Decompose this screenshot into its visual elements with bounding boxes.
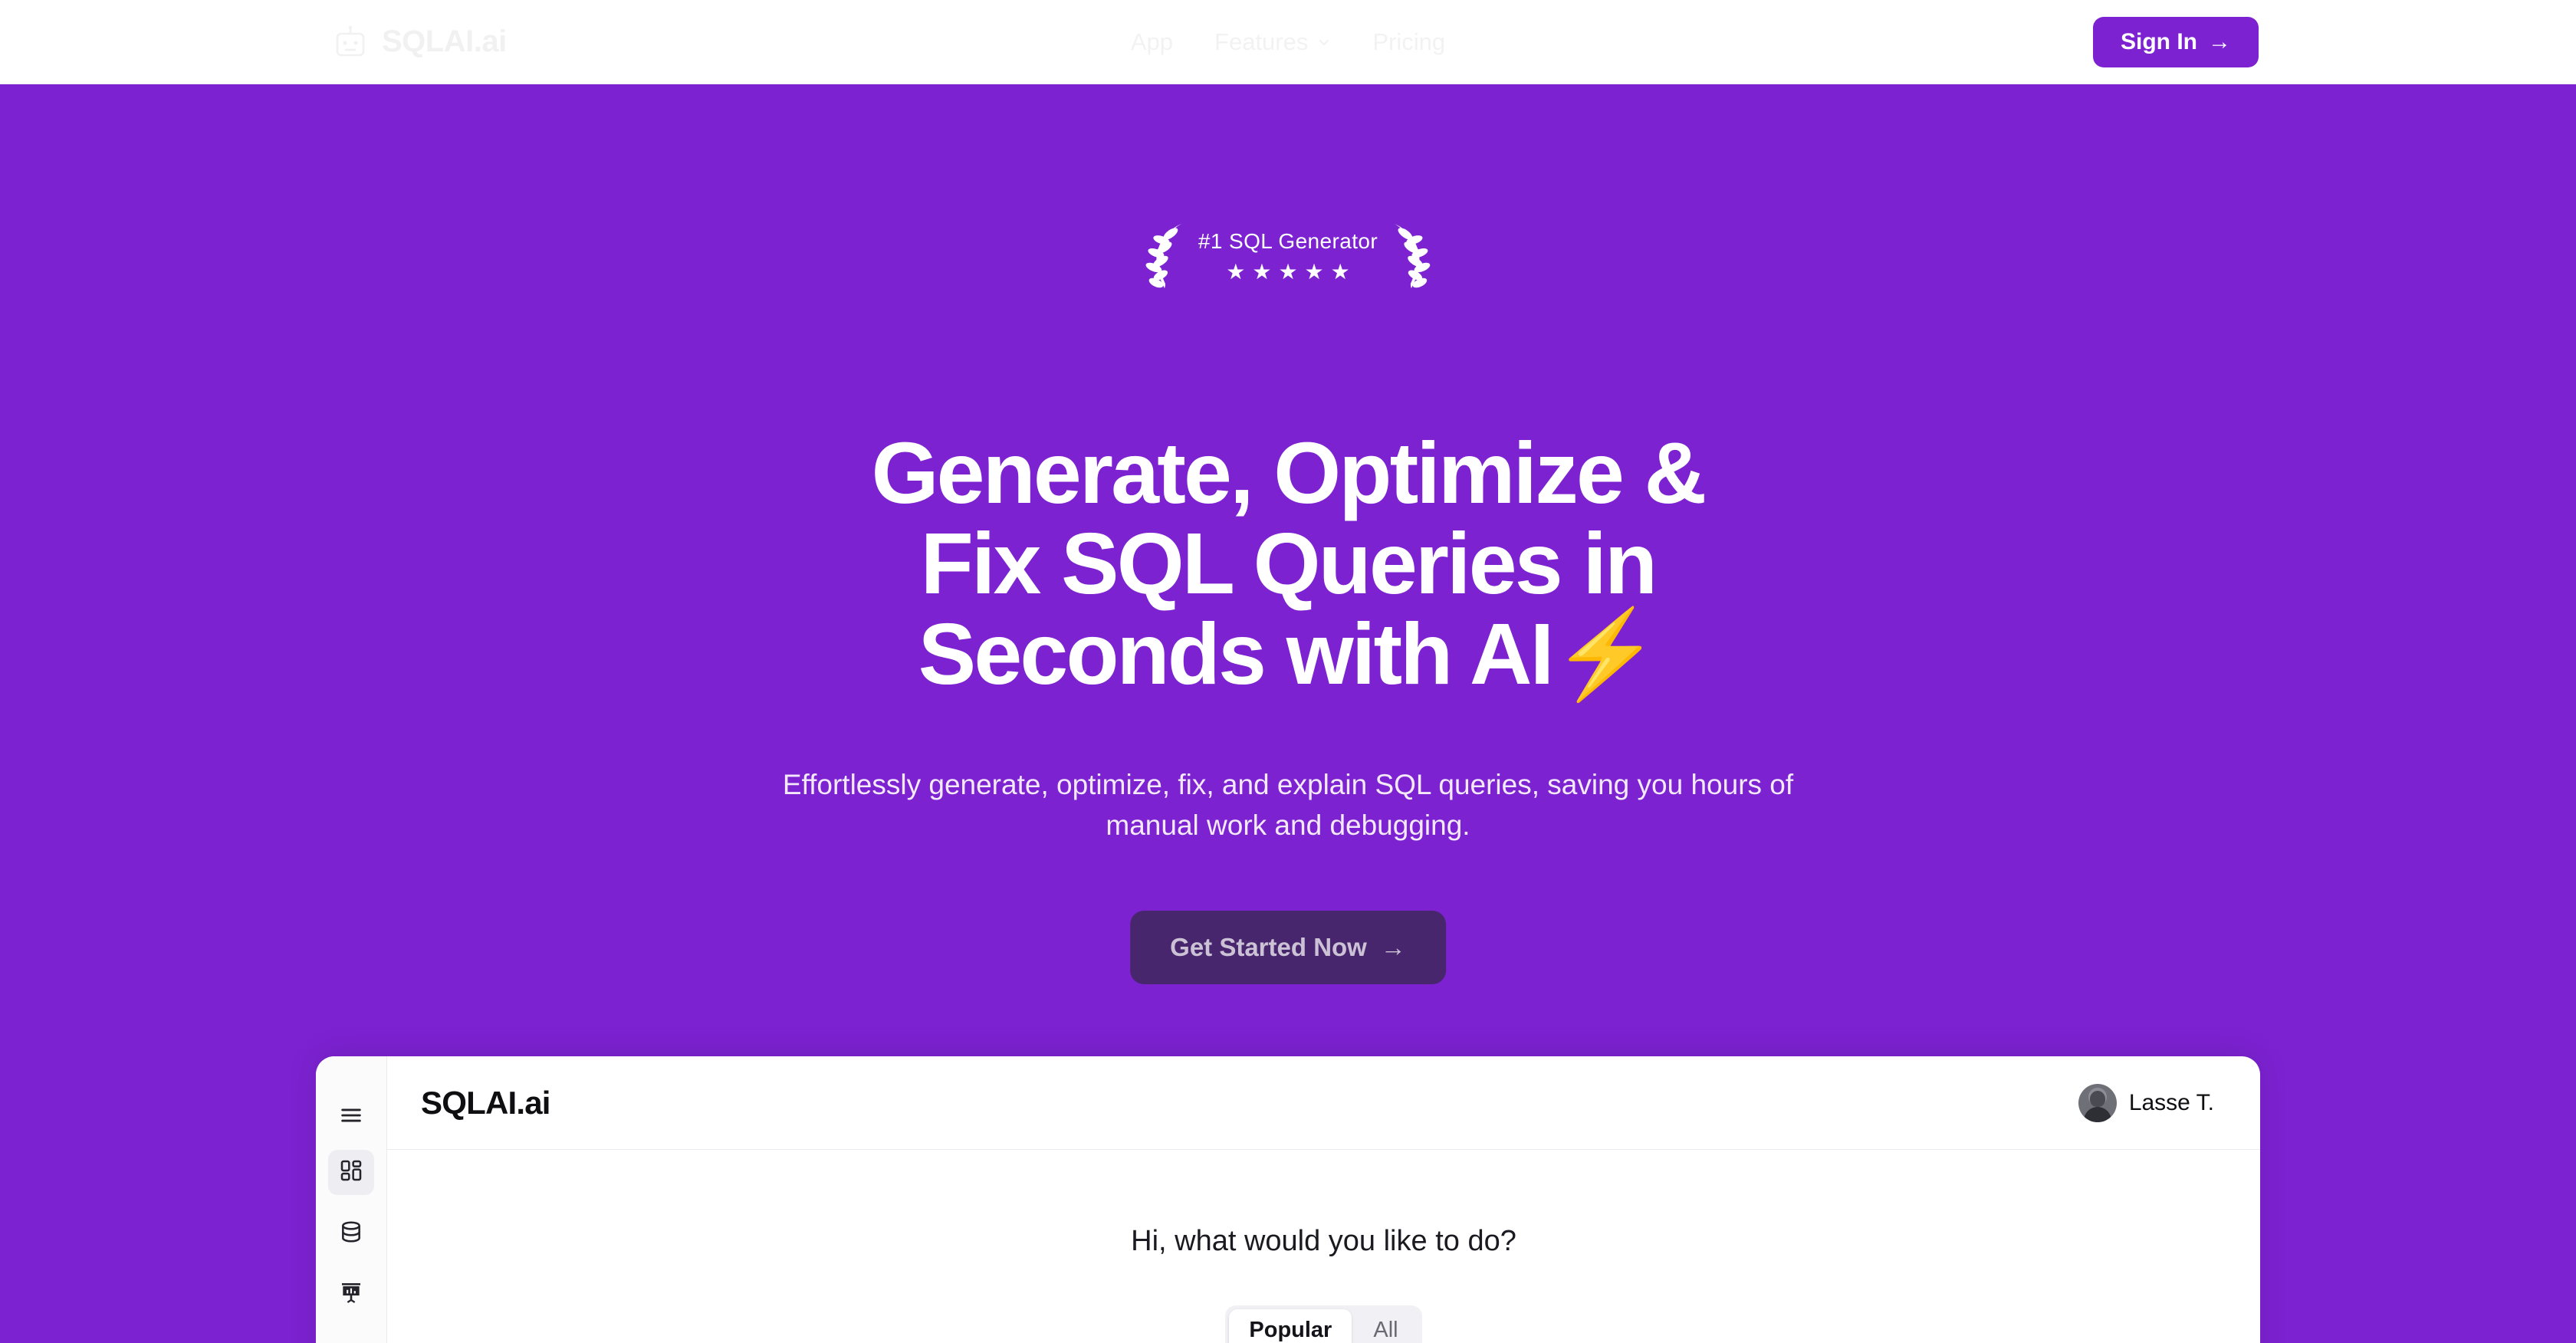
sidebar-item-documents[interactable] bbox=[328, 1333, 374, 1343]
brand-name: SQLAI.ai bbox=[382, 25, 507, 59]
arrow-right-icon: → bbox=[2208, 29, 2231, 55]
database-icon bbox=[339, 1220, 363, 1248]
star-icon: ★ bbox=[1331, 261, 1350, 283]
badge-center: #1 SQL Generator ★ ★ ★ ★ ★ bbox=[1194, 229, 1382, 283]
hero-section: #1 SQL Generator ★ ★ ★ ★ ★ bbox=[0, 84, 2576, 1343]
sql-robot-logo-icon bbox=[333, 25, 368, 60]
nav-link-features[interactable]: Features bbox=[1214, 28, 1331, 56]
headline-line-3: Seconds with AI bbox=[918, 606, 1552, 702]
nav-link-app-label: App bbox=[1131, 28, 1173, 56]
sidebar-item-dashboard[interactable] bbox=[328, 1150, 374, 1196]
get-started-label: Get Started Now bbox=[1170, 933, 1367, 962]
app-header: SQLAI.ai Lasse T. bbox=[387, 1056, 2260, 1150]
brand-logo[interactable]: SQLAI.ai bbox=[333, 25, 507, 60]
tab-popular[interactable]: Popular bbox=[1229, 1309, 1352, 1343]
greeting-text: Hi, what would you like to do? bbox=[1131, 1225, 1516, 1258]
app-sidebar bbox=[316, 1056, 387, 1343]
headline-line-2: Fix SQL Queries in bbox=[921, 515, 1656, 612]
prompt-filter-tabs: Popular All bbox=[1225, 1305, 1421, 1343]
award-badge: #1 SQL Generator ★ ★ ★ ★ ★ bbox=[1143, 221, 1433, 291]
laurel-wreath-left-icon bbox=[1143, 221, 1191, 291]
star-icon: ★ bbox=[1226, 261, 1245, 283]
nav-link-pricing-label: Pricing bbox=[1372, 28, 1445, 56]
nav-link-app[interactable]: App bbox=[1131, 28, 1173, 56]
lightning-bolt-icon: ⚡ bbox=[1552, 606, 1658, 702]
star-icon: ★ bbox=[1305, 261, 1324, 283]
hamburger-menu-icon[interactable] bbox=[316, 1081, 387, 1150]
hero-headline: Generate, Optimize & Fix SQL Queries in … bbox=[445, 428, 2131, 699]
presentation-chart-icon bbox=[339, 1280, 363, 1309]
sign-in-label: Sign In bbox=[2121, 29, 2197, 55]
arrow-right-icon: → bbox=[1381, 933, 1406, 962]
tab-all[interactable]: All bbox=[1353, 1309, 1418, 1343]
app-title: SQLAI.ai bbox=[421, 1085, 550, 1121]
avatar bbox=[2078, 1084, 2117, 1122]
laurel-wreath-right-icon bbox=[1385, 221, 1433, 291]
sidebar-item-analytics[interactable] bbox=[328, 1272, 374, 1318]
chevron-down-icon bbox=[1316, 34, 1331, 50]
sidebar-item-database[interactable] bbox=[328, 1210, 374, 1256]
user-name: Lasse T. bbox=[2129, 1090, 2214, 1116]
app-main: SQLAI.ai Lasse T. Hi, what would you lik… bbox=[387, 1056, 2260, 1343]
star-icon: ★ bbox=[1278, 261, 1297, 283]
primary-nav: App Features Pricing bbox=[1131, 28, 1445, 56]
nav-link-pricing[interactable]: Pricing bbox=[1372, 28, 1445, 56]
app-preview-card: SQLAI.ai Lasse T. Hi, what would you lik… bbox=[316, 1056, 2260, 1343]
nav-link-features-label: Features bbox=[1214, 28, 1308, 56]
hero-cta-wrapper: Get Started Now → bbox=[1130, 911, 1446, 984]
star-icon: ★ bbox=[1252, 261, 1271, 283]
sign-in-button[interactable]: Sign In → bbox=[2093, 17, 2259, 67]
user-menu[interactable]: Lasse T. bbox=[2078, 1084, 2214, 1122]
app-body: Hi, what would you like to do? Popular A… bbox=[387, 1150, 2260, 1343]
page-root: SQLAI.ai App Features Pricing Sign In → bbox=[0, 0, 2576, 1343]
badge-label: #1 SQL Generator bbox=[1198, 229, 1378, 254]
top-navigation-bar: SQLAI.ai App Features Pricing Sign In → bbox=[0, 0, 2576, 84]
dashboard-grid-icon bbox=[339, 1158, 363, 1187]
hero-subtitle: Effortlessly generate, optimize, fix, an… bbox=[744, 765, 1832, 846]
star-rating: ★ ★ ★ ★ ★ bbox=[1226, 261, 1350, 283]
headline-line-1: Generate, Optimize & bbox=[872, 425, 1705, 521]
get-started-button[interactable]: Get Started Now → bbox=[1130, 911, 1446, 984]
